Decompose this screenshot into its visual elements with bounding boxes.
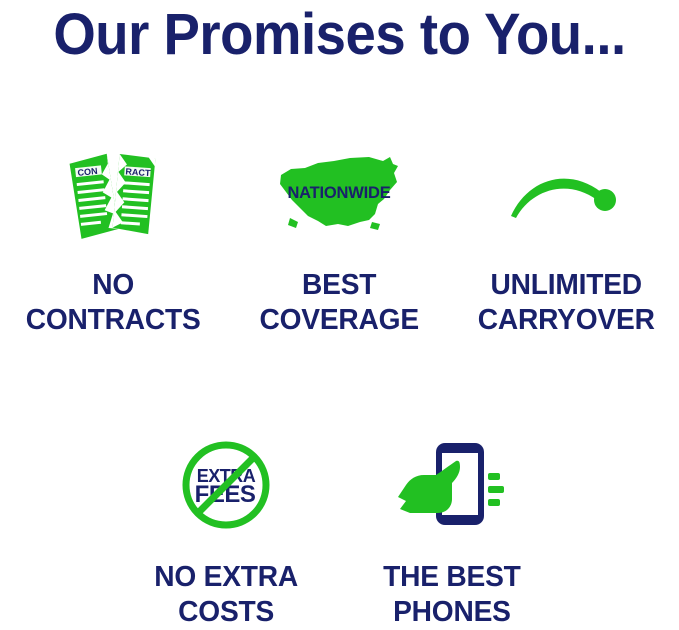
promise-item-no-extra-costs: EXTRA FEES NO EXTRA COSTS [113, 430, 339, 630]
svg-text:RACT: RACT [125, 166, 151, 178]
promise-item-best-coverage: NATIONWIDE BEST COVERAGE [226, 140, 452, 338]
promise-label-unlimited-carryover: UNLIMITED CARRYOVER [477, 268, 654, 338]
usa-map-icon: NATIONWIDE [226, 140, 452, 250]
map-label: NATIONWIDE [288, 184, 391, 202]
promise-item-unlimited-carryover: UNLIMITED CARRYOVER [453, 140, 679, 338]
no-extra-fees-icon: EXTRA FEES [113, 430, 339, 540]
promise-item-no-contracts: CON [0, 140, 226, 338]
torn-contract-graphic: CON [59, 145, 167, 245]
page-title: Our Promises to You... [20, 4, 658, 66]
carryover-arc-graphic [505, 160, 627, 230]
no-extra-fees-graphic: EXTRA FEES [178, 437, 274, 533]
torn-contract-icon: CON [0, 140, 226, 250]
hand-phone-graphic [394, 435, 510, 535]
hand-tapping-phone-icon [339, 430, 565, 540]
carryover-arc-icon [453, 140, 679, 250]
promise-label-the-best-phones: THE BEST PHONES [383, 560, 521, 630]
usa-map-graphic: NATIONWIDE [274, 152, 404, 238]
row-spacer-right [565, 430, 678, 630]
promise-label-no-contracts: NO CONTRACTS [26, 268, 201, 338]
row-spacer-left [0, 430, 113, 630]
promises-card: Our Promises to You... CON [0, 0, 679, 624]
promise-row-top: CON [0, 140, 679, 338]
promise-row-bottom: EXTRA FEES NO EXTRA COSTS [0, 430, 679, 630]
promise-label-no-extra-costs: NO EXTRA COSTS [154, 560, 298, 630]
promise-item-the-best-phones: THE BEST PHONES [339, 430, 565, 630]
promise-label-best-coverage: BEST COVERAGE [260, 268, 419, 338]
svg-text:CON: CON [77, 166, 98, 178]
